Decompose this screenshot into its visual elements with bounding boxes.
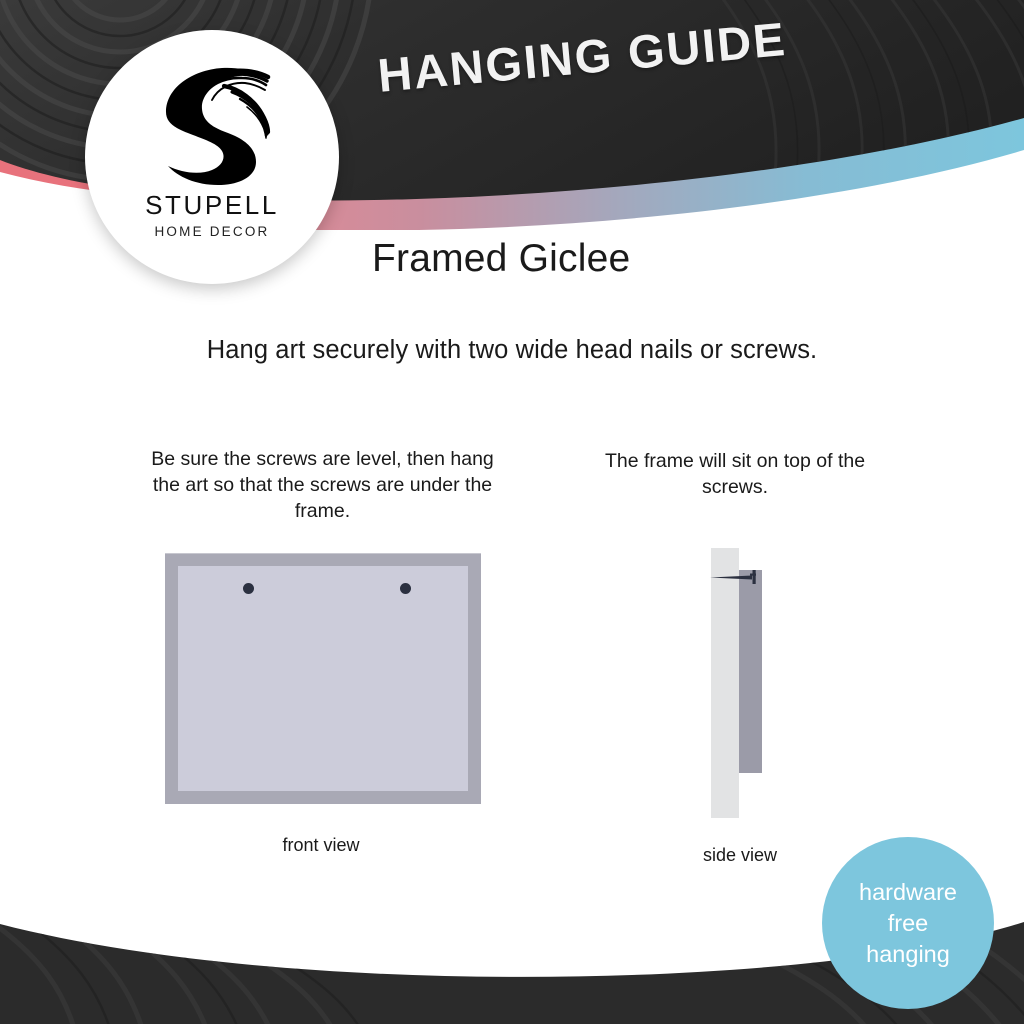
screw-dot-left — [243, 583, 254, 594]
product-type-heading: Framed Giclee — [372, 237, 630, 281]
front-view-diagram — [165, 553, 481, 804]
hardware-free-badge: hardware free hanging — [822, 837, 994, 1009]
front-view-label: front view — [221, 835, 421, 856]
hanging-guide-page: HANGING GUIDE STUPELL HOME DECOR Framed … — [0, 0, 1024, 1024]
stupell-swoosh-icon — [152, 56, 272, 186]
side-view-label: side view — [640, 845, 840, 866]
frame-art-panel — [178, 566, 468, 791]
badge-line-2: free — [888, 908, 929, 939]
badge-line-3: hanging — [866, 939, 950, 970]
brand-name: STUPELL — [145, 190, 279, 221]
screw-dot-right — [400, 583, 411, 594]
frame-side-strip — [739, 570, 762, 773]
brand-logo-badge: STUPELL HOME DECOR — [85, 30, 339, 284]
side-view-caption: The frame will sit on top of the screws. — [585, 448, 885, 500]
brand-tagline: HOME DECOR — [154, 224, 269, 239]
badge-line-1: hardware — [859, 877, 957, 908]
side-view-diagram — [705, 543, 775, 828]
front-view-caption: Be sure the screws are level, then hang … — [150, 446, 495, 524]
lead-instruction: Hang art securely with two wide head nai… — [0, 336, 1024, 365]
nail-icon — [708, 565, 764, 589]
